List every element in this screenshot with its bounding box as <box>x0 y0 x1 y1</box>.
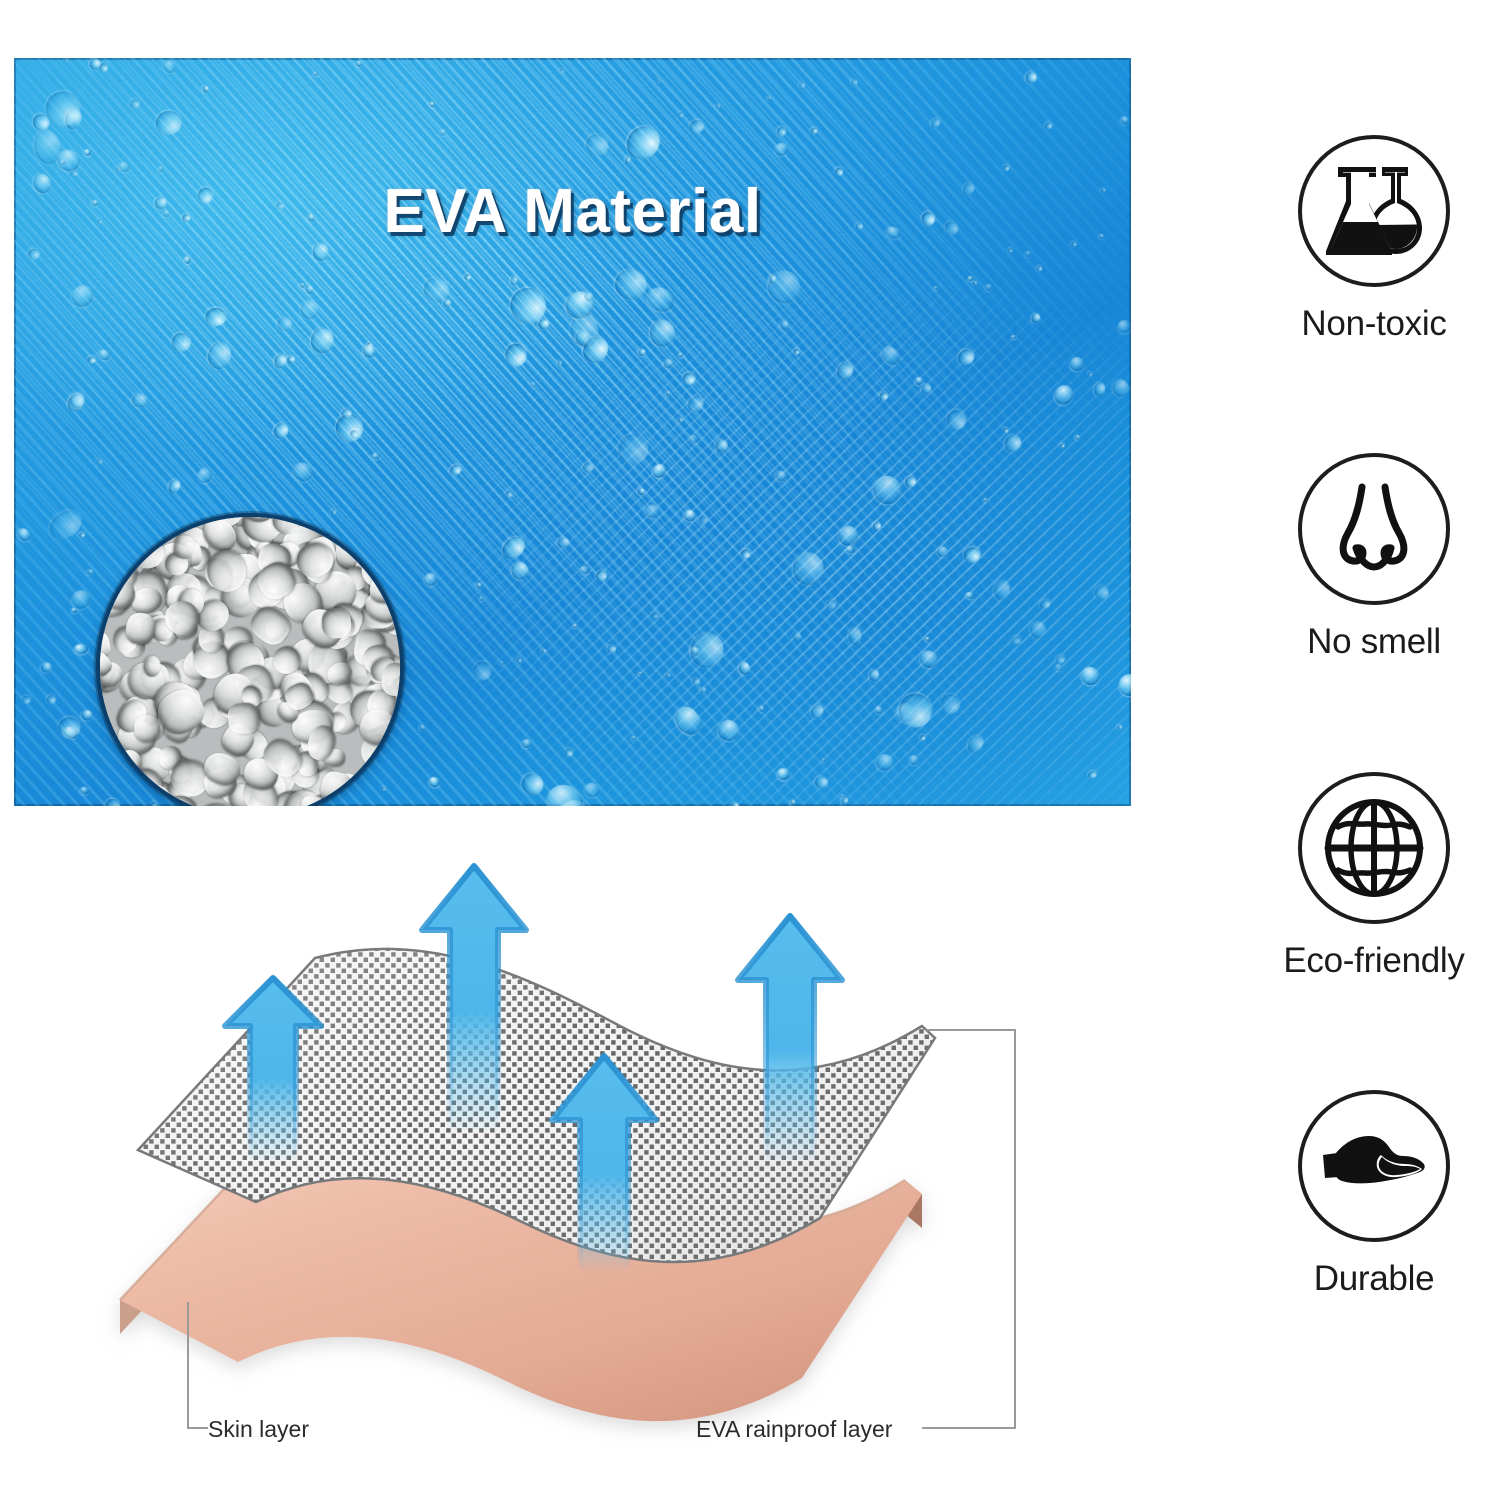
water-droplet <box>428 100 436 108</box>
feature-no-smell[interactable]: No smell <box>1248 453 1500 662</box>
water-droplet <box>297 297 322 322</box>
water-droplet <box>1035 265 1043 273</box>
water-droplet <box>907 754 921 768</box>
water-droplet <box>965 591 976 600</box>
water-droplet <box>894 703 917 722</box>
water-droplet <box>516 351 526 362</box>
water-droplet <box>867 668 880 682</box>
water-droplet <box>1075 434 1081 440</box>
water-droplet <box>1024 250 1032 258</box>
water-droplet <box>43 505 86 546</box>
water-droplet <box>1051 382 1076 408</box>
eva-resin-pellets <box>96 513 404 806</box>
water-droplet <box>878 343 903 369</box>
water-droplet <box>463 273 472 282</box>
water-droplet <box>58 716 82 739</box>
skin-layer-label: Skin layer <box>208 1416 309 1443</box>
water-droplet <box>651 461 669 479</box>
water-droplet <box>84 148 93 156</box>
water-droplet <box>70 607 77 614</box>
water-droplet <box>579 332 614 368</box>
water-droplet <box>498 533 529 564</box>
eva-rainproof-layer-label: EVA rainproof layer <box>696 1416 892 1443</box>
water-droplet <box>61 725 79 741</box>
water-droplet <box>310 328 335 354</box>
water-droplet <box>22 696 32 705</box>
water-droplet <box>510 275 518 286</box>
eva-material-photo: EVA Material <box>14 58 1131 806</box>
water-droplet <box>620 119 667 166</box>
water-droplet <box>648 318 677 349</box>
water-droplet <box>1119 674 1131 697</box>
water-droplet <box>716 104 721 109</box>
flask-icon <box>1322 159 1426 263</box>
water-droplet <box>655 79 660 83</box>
water-droplet <box>684 393 707 416</box>
water-droplet <box>499 660 505 665</box>
water-droplet <box>984 283 994 293</box>
water-droplet <box>1002 428 1009 434</box>
feature-label-durable: Durable <box>1248 1259 1500 1299</box>
water-droplet <box>1011 335 1016 339</box>
water-droplet <box>688 645 701 658</box>
water-droplet <box>573 623 579 629</box>
water-droplet <box>677 417 683 423</box>
water-droplet <box>206 308 227 326</box>
water-droplet <box>560 287 598 325</box>
water-droplet <box>773 140 791 158</box>
feature-circle-non-toxic <box>1298 135 1450 287</box>
eva-pellet <box>96 573 97 602</box>
water-droplet <box>769 274 776 284</box>
nose-icon <box>1322 477 1426 581</box>
water-droplet <box>919 735 926 742</box>
water-droplet <box>68 390 86 410</box>
water-droplet <box>360 342 378 360</box>
water-droplet <box>903 474 919 490</box>
water-droplet <box>955 346 977 368</box>
water-droplet <box>86 569 94 577</box>
water-droplet <box>696 514 709 527</box>
eva-pellet <box>96 742 102 780</box>
globe-icon <box>1320 794 1428 902</box>
water-droplet <box>1055 663 1063 671</box>
water-droplet <box>738 660 751 675</box>
water-droplet <box>313 72 319 77</box>
water-droplet <box>713 716 743 746</box>
water-droplet <box>575 330 589 345</box>
water-droplet <box>277 316 294 333</box>
water-droplet <box>612 428 654 470</box>
water-droplet <box>87 355 98 364</box>
water-droplet <box>983 497 989 503</box>
water-droplet <box>443 299 452 307</box>
water-droplet <box>1087 769 1098 779</box>
water-droplet <box>839 793 846 800</box>
feature-icon-column: Non-toxic No smell <box>1248 60 1500 1440</box>
water-droplet <box>810 127 819 135</box>
water-droplet <box>877 391 889 403</box>
water-droplet <box>53 146 84 177</box>
water-droplet <box>503 281 553 331</box>
water-droplet <box>847 626 861 644</box>
layer-diagram-svg <box>60 830 1120 1490</box>
water-droplet <box>825 598 839 611</box>
water-droplet <box>643 282 678 315</box>
water-droplet <box>834 359 857 383</box>
water-droplet <box>1078 663 1103 688</box>
water-droplet <box>556 359 562 366</box>
water-droplet <box>521 737 533 749</box>
water-droplet <box>305 284 314 294</box>
water-droplet <box>537 318 549 330</box>
water-droplet <box>921 383 933 396</box>
water-droplet <box>757 705 764 713</box>
feature-circle-eco-friendly <box>1298 772 1450 924</box>
water-droplet <box>543 781 586 806</box>
water-droplet <box>688 433 700 444</box>
water-droplet <box>917 647 942 672</box>
eva-pellet <box>321 607 352 639</box>
water-droplet <box>606 643 617 654</box>
water-droplet <box>780 320 788 329</box>
water-droplet <box>473 661 493 681</box>
water-droplet <box>613 266 651 303</box>
water-droplet <box>790 799 796 806</box>
water-droplet <box>166 477 183 495</box>
feature-eco-friendly[interactable]: Eco-friendly <box>1248 772 1500 981</box>
water-droplet <box>565 748 574 756</box>
water-droplet <box>299 282 306 289</box>
water-droplet <box>1010 634 1023 645</box>
eva-pellet <box>96 742 101 771</box>
feature-durable[interactable]: Durable <box>1248 1090 1500 1299</box>
water-droplet <box>935 544 950 559</box>
water-droplet <box>1028 619 1049 641</box>
water-droplet <box>637 488 644 495</box>
layer-structure-diagram: Skin layer EVA rainproof layer <box>60 830 1120 1490</box>
water-droplet <box>449 462 464 476</box>
water-droplet <box>349 429 359 439</box>
water-droplet <box>504 343 528 369</box>
water-droplet <box>272 352 289 370</box>
water-droplet <box>791 550 826 587</box>
water-droplet <box>1087 371 1092 376</box>
water-droplet <box>582 130 612 160</box>
water-droplet <box>1093 583 1112 602</box>
water-droplet <box>30 127 63 167</box>
water-droplet <box>1117 724 1124 731</box>
water-droplet <box>1110 377 1131 399</box>
water-droplet <box>271 421 291 442</box>
eva-pellet <box>221 513 253 516</box>
water-droplet <box>868 470 908 510</box>
water-droplet <box>419 273 453 306</box>
eva-pellet <box>400 559 404 590</box>
water-droplet <box>662 357 675 370</box>
water-droplet <box>808 702 825 720</box>
water-droplet <box>643 501 662 520</box>
water-droplet <box>1053 654 1066 665</box>
water-droplet <box>791 631 802 641</box>
water-droplet <box>1043 121 1053 131</box>
water-droplet <box>652 612 659 619</box>
eva-pellet <box>294 513 327 514</box>
water-droplet <box>74 644 88 655</box>
water-droplet <box>1032 313 1041 323</box>
water-droplet <box>666 390 671 396</box>
open-hand-icon <box>1319 1111 1429 1221</box>
infographic-canvas: EVA Material <box>0 0 1500 1500</box>
water-droplet <box>991 578 1011 601</box>
water-droplet <box>96 347 112 362</box>
water-droplet <box>678 352 684 358</box>
water-droplet <box>898 694 932 729</box>
water-droplet <box>157 165 164 172</box>
water-droplet <box>45 693 57 705</box>
water-droplet <box>116 160 131 174</box>
water-droplet <box>364 345 376 356</box>
water-droplet <box>765 267 804 307</box>
feature-label-no-smell: No smell <box>1248 622 1500 662</box>
water-droplet <box>422 571 440 589</box>
water-droplet <box>90 58 102 70</box>
water-droplet <box>63 106 83 130</box>
water-droplet <box>1038 597 1052 610</box>
water-droplet <box>1002 432 1025 456</box>
water-droplet <box>64 390 88 415</box>
water-droplet <box>529 381 536 389</box>
water-droplet <box>775 469 789 483</box>
water-droplet <box>1094 382 1107 398</box>
water-droplet <box>427 775 441 788</box>
water-droplet <box>835 522 862 549</box>
water-droplet <box>682 372 697 386</box>
water-droplet <box>700 686 706 693</box>
eva-material-title: EVA Material <box>14 176 1131 247</box>
water-droplet <box>670 702 706 740</box>
water-droplet <box>559 69 565 73</box>
water-droplet <box>116 167 122 173</box>
water-droplet <box>79 785 90 795</box>
water-droplet <box>581 460 596 475</box>
water-droplet <box>197 468 212 484</box>
water-droplet <box>913 375 924 386</box>
water-droplet <box>870 520 882 532</box>
water-droplet <box>691 676 702 687</box>
water-droplet <box>792 348 800 356</box>
water-droplet <box>96 458 104 466</box>
water-droplet <box>29 111 52 134</box>
eva-pellet <box>176 513 204 528</box>
water-droplet <box>339 407 354 422</box>
water-droplet <box>184 256 191 264</box>
water-droplet <box>39 660 53 674</box>
feature-label-non-toxic: Non-toxic <box>1248 304 1500 344</box>
water-droplet <box>372 453 380 459</box>
water-droplet <box>41 87 83 130</box>
water-droplet <box>775 125 787 137</box>
eva-pellet <box>96 516 99 541</box>
water-droplet <box>594 568 610 584</box>
water-droplet <box>1023 69 1039 85</box>
water-droplet <box>928 116 941 130</box>
water-droplet <box>875 705 884 714</box>
eva-pellet <box>375 513 404 543</box>
water-droplet <box>129 97 142 110</box>
water-droplet <box>516 657 522 663</box>
water-droplet <box>331 409 368 446</box>
water-droplet <box>542 649 547 654</box>
water-droplet <box>797 81 806 91</box>
water-droplet <box>934 286 939 291</box>
water-droplet <box>740 549 751 560</box>
water-droplet <box>973 281 977 285</box>
feature-circle-no-smell <box>1298 453 1450 605</box>
eva-pellet <box>96 735 97 778</box>
water-droplet <box>846 545 856 554</box>
water-droplet <box>939 692 961 715</box>
water-droplet <box>419 724 426 731</box>
water-droplet <box>776 767 791 782</box>
feature-label-eco-friendly: Eco-friendly <box>1248 941 1500 981</box>
water-droplet <box>286 354 296 364</box>
water-droplet <box>874 751 897 774</box>
water-droplet <box>687 118 706 136</box>
water-droplet <box>290 459 316 485</box>
water-droplet <box>505 490 513 498</box>
water-droplet <box>69 587 93 612</box>
water-droplet <box>964 732 987 756</box>
water-droplet <box>206 340 234 371</box>
water-droplet <box>98 61 110 73</box>
water-droplet <box>677 112 683 118</box>
feature-circle-durable <box>1298 1090 1450 1242</box>
water-droplet <box>1067 355 1086 374</box>
water-droplet <box>968 276 973 281</box>
water-droplet <box>1002 164 1010 172</box>
water-droplet <box>331 509 338 516</box>
water-droplet <box>850 78 858 86</box>
eva-pellet <box>301 513 324 514</box>
eva-layer-leader-line <box>922 1030 1015 1428</box>
water-droplet <box>15 526 32 544</box>
water-droplet <box>80 708 94 722</box>
eva-pellet-inset-circle <box>96 513 404 806</box>
water-droplet <box>630 734 636 741</box>
water-droplet <box>637 671 642 676</box>
water-droplet <box>841 796 850 806</box>
water-droplet <box>624 156 632 165</box>
water-droplet <box>961 544 982 565</box>
water-droplet <box>154 108 185 138</box>
water-droplet <box>355 60 363 68</box>
water-droplet <box>583 291 594 303</box>
water-droplet <box>203 85 210 93</box>
eva-pellet <box>96 727 98 763</box>
feature-non-toxic[interactable]: Non-toxic <box>1248 135 1500 344</box>
water-droplet <box>476 582 482 589</box>
water-droplet <box>687 629 728 671</box>
water-droplet <box>557 536 570 548</box>
water-droplet <box>682 507 698 523</box>
water-droplet <box>63 58 69 63</box>
water-droplet <box>1008 248 1013 253</box>
water-droplet <box>1059 444 1065 449</box>
water-droplet <box>160 58 177 76</box>
water-droplet <box>665 672 671 678</box>
water-droplet <box>1118 320 1130 333</box>
water-droplet <box>731 803 739 806</box>
water-droplet <box>509 559 531 581</box>
water-droplet <box>814 774 830 789</box>
water-droplet <box>479 596 484 601</box>
water-droplet <box>60 160 66 166</box>
water-droplet <box>68 282 97 312</box>
water-droplet <box>822 758 826 762</box>
water-droplet <box>639 348 646 355</box>
water-droplet <box>558 799 592 806</box>
water-droplet <box>78 532 86 539</box>
water-droplet <box>439 128 448 137</box>
water-droplet <box>517 770 547 800</box>
water-droplet <box>580 566 590 575</box>
water-droplet <box>944 408 969 433</box>
water-droplet <box>169 330 194 355</box>
water-droplet <box>26 246 42 261</box>
water-droplet <box>767 96 770 100</box>
water-droplet <box>366 341 374 349</box>
water-droplet <box>582 780 602 799</box>
water-droplet <box>568 312 601 349</box>
water-droplet <box>131 393 148 409</box>
water-droplet <box>925 636 931 642</box>
water-droplet <box>1119 115 1130 127</box>
water-droplet <box>714 438 729 454</box>
